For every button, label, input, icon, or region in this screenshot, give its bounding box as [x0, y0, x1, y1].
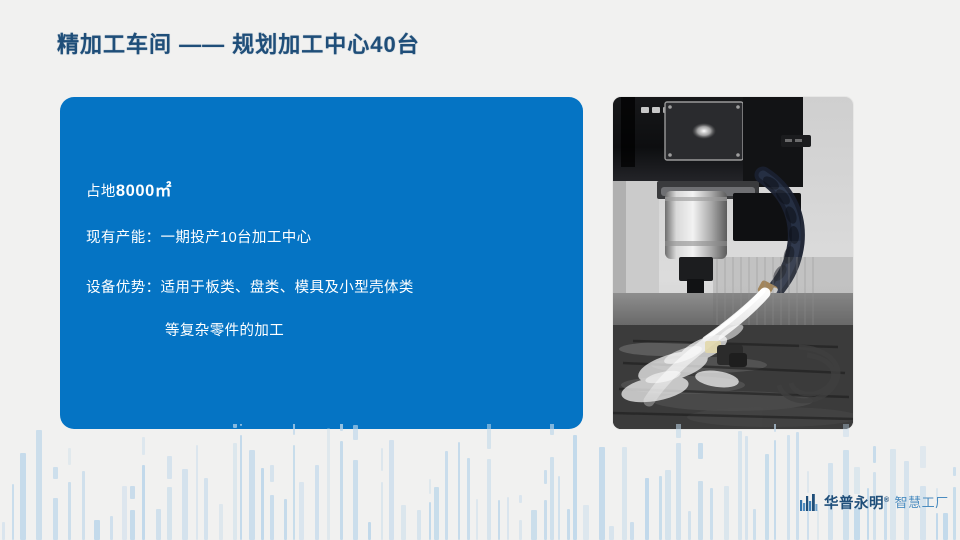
logo-subtitle: 智慧工厂	[895, 494, 949, 511]
decoration-bar	[953, 467, 956, 476]
factory-skyline-icon	[800, 494, 819, 511]
decoration-bar	[12, 484, 14, 540]
decoration-bar	[270, 465, 274, 482]
decoration-bar	[487, 459, 491, 540]
decoration-bar	[340, 441, 343, 540]
decoration-bar	[68, 482, 71, 540]
info-line-capacity: 现有产能：一期投产10台加工中心	[86, 226, 312, 247]
decoration-bar	[429, 479, 431, 494]
decoration-bar	[293, 445, 295, 540]
decoration-bar	[130, 510, 135, 540]
slide-canvas: 精加工车间 —— 规划加工中心40台 占地8000㎡ 现有产能：一期投产10台加…	[0, 0, 960, 540]
decoration-bar	[745, 436, 748, 540]
decoration-bar	[284, 499, 287, 540]
title-area: 精加工车间 —— 规划加工中心40台	[0, 28, 960, 74]
decoration-bar	[249, 450, 255, 540]
decoration-bar	[36, 430, 42, 540]
decoration-bar	[68, 448, 71, 465]
decoration-bar	[368, 522, 371, 540]
page-title: 精加工车间 —— 规划加工中心40台	[57, 28, 420, 62]
decoration-bar	[645, 478, 649, 540]
decoration-bar	[458, 442, 460, 540]
decoration-bar	[270, 495, 274, 540]
decoration-bar	[630, 522, 634, 540]
info-line-advantage-continued: 等复杂零件的加工	[165, 319, 284, 340]
decoration-bar	[558, 476, 560, 540]
decoration-bar	[53, 467, 58, 479]
decoration-bar	[531, 510, 537, 540]
decoration-bar	[544, 470, 547, 484]
decoration-bar	[765, 454, 769, 540]
decoration-bar	[920, 446, 926, 468]
company-logo: 华普永明® 智慧工厂	[800, 491, 949, 513]
decoration-bar	[519, 495, 522, 503]
decoration-bar	[445, 451, 448, 540]
decoration-bar	[110, 516, 113, 540]
decoration-bar	[573, 435, 577, 540]
decoration-bar	[817, 510, 819, 540]
decoration-bar	[738, 431, 742, 540]
decoration-bar	[82, 471, 85, 540]
decoration-bar	[381, 482, 383, 540]
decoration-bar	[219, 504, 223, 540]
decoration-bar	[182, 469, 188, 540]
decoration-bar	[599, 447, 605, 540]
decoration-bar	[936, 513, 938, 540]
decoration-bar	[807, 471, 809, 493]
decoration-bar	[261, 468, 264, 540]
decoration-bar	[622, 447, 627, 540]
decoration-bar	[417, 510, 421, 540]
info-line-area-prefix: 占地	[86, 184, 116, 200]
decoration-bar	[698, 481, 703, 540]
decoration-bar	[2, 522, 5, 540]
decoration-bar	[142, 465, 145, 540]
decoration-bar	[550, 457, 554, 540]
decoration-bar	[507, 497, 509, 540]
decoration-bar	[583, 505, 589, 540]
decoration-bar	[953, 487, 956, 540]
decoration-bar	[665, 470, 671, 540]
decoration-bar	[53, 498, 58, 540]
decoration-bar	[519, 520, 522, 540]
decoration-bar	[240, 435, 242, 540]
decoration-bar	[724, 486, 729, 540]
machining-center-photo	[613, 97, 853, 429]
decoration-bar	[567, 509, 570, 540]
decoration-bar	[467, 458, 470, 540]
decoration-bar	[943, 513, 948, 540]
decoration-bar	[698, 443, 703, 459]
decoration-bar	[156, 509, 161, 540]
decoration-bar	[688, 511, 691, 540]
decoration-bar	[476, 499, 478, 540]
decoration-bar	[353, 460, 358, 540]
decoration-bar	[753, 509, 756, 540]
decoration-bar	[544, 500, 547, 540]
vertical-bars-decoration	[0, 424, 960, 540]
decoration-bar	[381, 448, 383, 471]
decoration-bar	[434, 487, 439, 540]
decoration-bar	[94, 520, 100, 540]
decoration-bar	[167, 456, 172, 479]
content-card: 占地8000㎡ 现有产能：一期投产10台加工中心 设备优势：适用于板类、盘类、模…	[60, 97, 583, 429]
decoration-bar	[796, 432, 799, 540]
decoration-bar	[854, 467, 860, 494]
info-line-advantage: 设备优势：适用于板类、盘类、模具及小型壳体类	[86, 276, 414, 297]
logo-trademark: ®	[884, 497, 890, 504]
info-line-area: 占地8000㎡	[86, 177, 172, 201]
logo-company-name: 华普永明®	[824, 492, 890, 513]
decoration-bar	[122, 486, 127, 540]
decoration-bar	[142, 437, 145, 455]
decoration-bar	[167, 487, 172, 540]
decoration-bar	[787, 435, 790, 540]
decoration-bar	[327, 428, 330, 540]
decoration-bar	[401, 505, 406, 540]
decoration-bar	[609, 526, 614, 540]
decoration-bar	[204, 478, 208, 540]
decoration-bar	[299, 482, 304, 540]
decoration-bar	[429, 502, 431, 540]
info-line-area-value: 8000㎡	[116, 182, 172, 200]
decoration-bar	[659, 476, 662, 540]
decoration-bar	[196, 445, 198, 540]
cnc-machining-center-photo-icon	[613, 97, 853, 429]
decoration-bar	[710, 488, 713, 540]
decoration-bar	[20, 453, 26, 540]
decoration-bar	[774, 440, 776, 540]
decoration-bar	[676, 443, 681, 540]
decoration-bar	[233, 443, 237, 540]
decoration-bar	[130, 486, 135, 499]
decoration-bar	[315, 465, 319, 540]
decoration-bar	[873, 446, 876, 463]
decoration-bar	[389, 440, 394, 540]
decoration-bar	[498, 500, 500, 540]
